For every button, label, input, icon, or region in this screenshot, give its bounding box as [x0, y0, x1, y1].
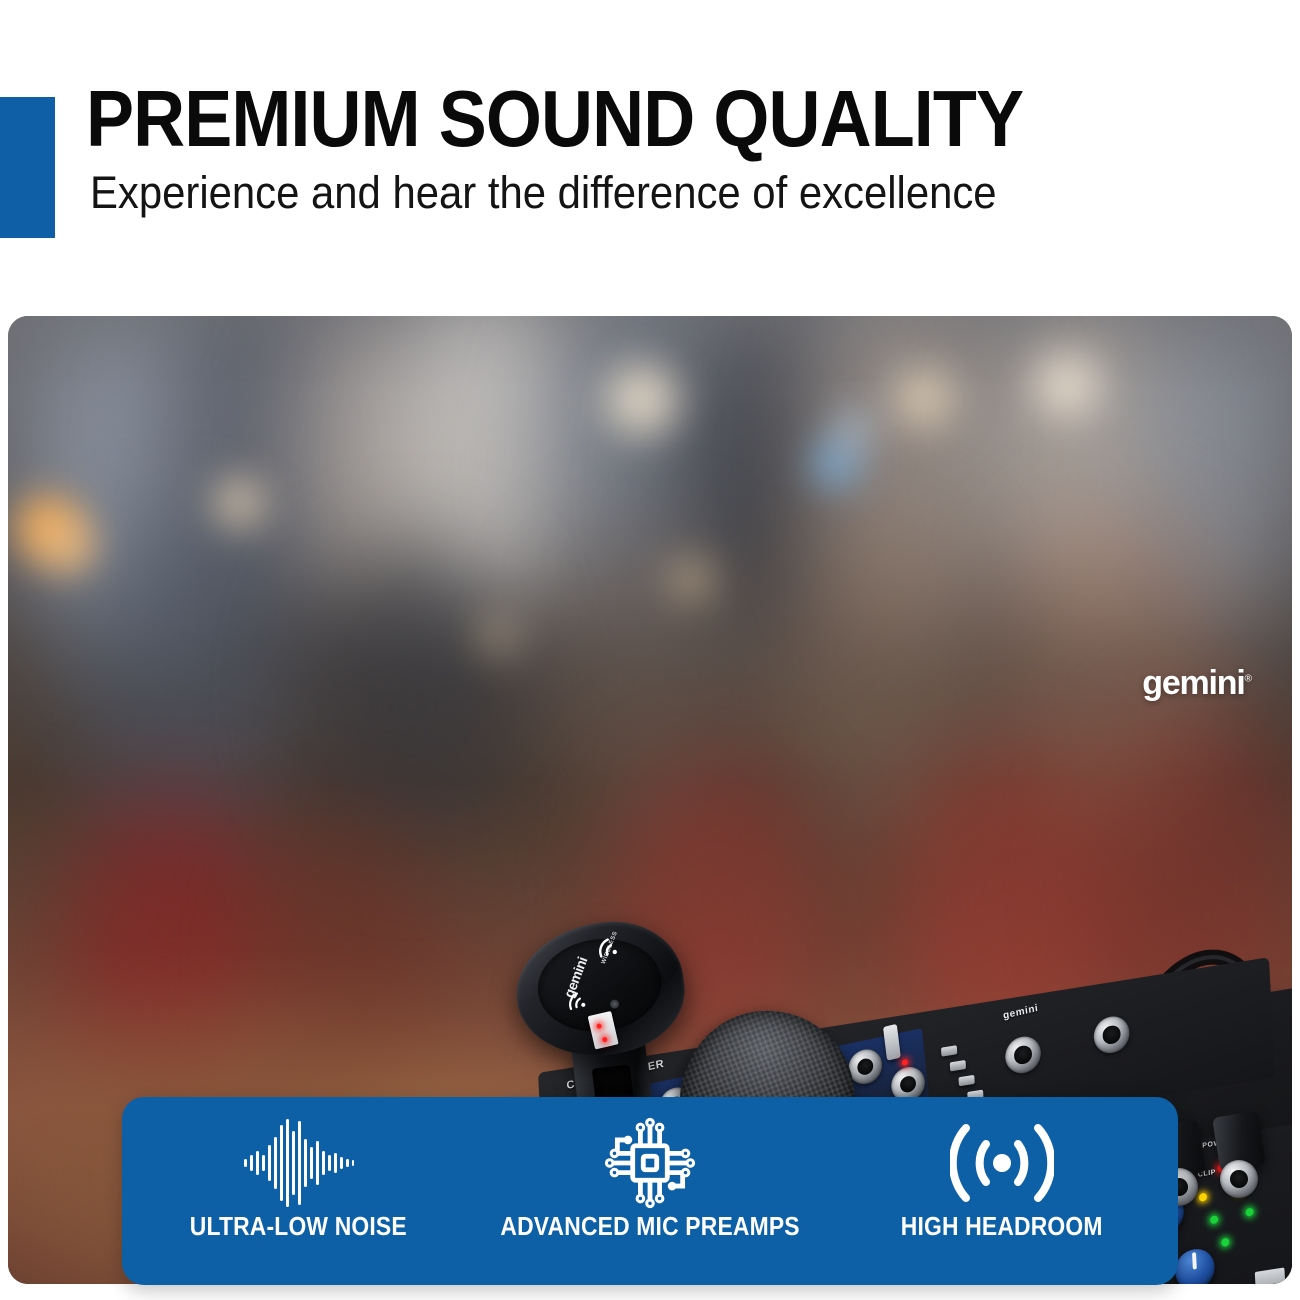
toggle-switch[interactable]: [941, 1045, 957, 1057]
bokeh-light: [668, 556, 714, 602]
waveform-icon-svg: [242, 1117, 354, 1209]
output-jack[interactable]: [1004, 1034, 1041, 1076]
level-led-high: [1199, 1193, 1207, 1202]
toggle-switch[interactable]: [958, 1075, 974, 1087]
feature-ultra-low-noise: ULTRA-LOW NOISE: [122, 1097, 474, 1285]
bokeh-light: [44, 522, 94, 572]
bokeh-light: [214, 478, 264, 528]
feature-advanced-mic-preamps: ADVANCED MIC PREAMPS: [474, 1097, 826, 1285]
toggle-switch[interactable]: [950, 1060, 966, 1072]
feature-label: ADVANCED MIC PREAMPS: [500, 1211, 799, 1242]
phones-knob[interactable]: [1174, 1246, 1216, 1284]
accent-bar: [0, 97, 55, 238]
bokeh-light: [478, 616, 518, 656]
level-led-ok: [1221, 1238, 1229, 1247]
feature-label: ULTRA-LOW NOISE: [189, 1211, 406, 1242]
page-title: PREMIUM SOUND QUALITY: [86, 76, 1148, 162]
output-jack[interactable]: [1093, 1014, 1130, 1056]
brand-logo: gemini®: [1142, 664, 1252, 703]
feature-high-headroom: HIGH HEADROOM: [826, 1097, 1178, 1285]
microchip-icon-svg: [602, 1115, 698, 1211]
feature-label: HIGH HEADROOM: [901, 1211, 1103, 1242]
level-led-ok: [1245, 1207, 1253, 1216]
plug-collar-right: [1220, 1160, 1258, 1198]
bokeh-light-blue: [814, 442, 858, 486]
level-led-ok: [1210, 1215, 1218, 1224]
page-subtitle: Experience and hear the difference of ex…: [90, 167, 1187, 219]
bokeh-figure: [308, 546, 518, 846]
waveform-icon: [242, 1115, 354, 1211]
bokeh-light-blue: [836, 412, 870, 446]
microchip-icon: [602, 1115, 698, 1211]
bokeh-light: [606, 364, 678, 436]
mode-switch[interactable]: [1255, 1267, 1286, 1284]
broadcast-signal-icon: [950, 1115, 1054, 1211]
header-section: PREMIUM SOUND QUALITY Experience and hea…: [0, 0, 1300, 300]
broadcast-signal-icon-svg: [950, 1118, 1054, 1208]
brand-logo-text: gemini: [1142, 664, 1244, 702]
bokeh-light: [1034, 352, 1100, 418]
bokeh-light: [894, 368, 954, 428]
mixer-brand-top: gemini: [1002, 1003, 1039, 1022]
feature-bar: ULTRA-LOW NOISE: [122, 1097, 1178, 1285]
registered-mark: ®: [1245, 674, 1252, 685]
